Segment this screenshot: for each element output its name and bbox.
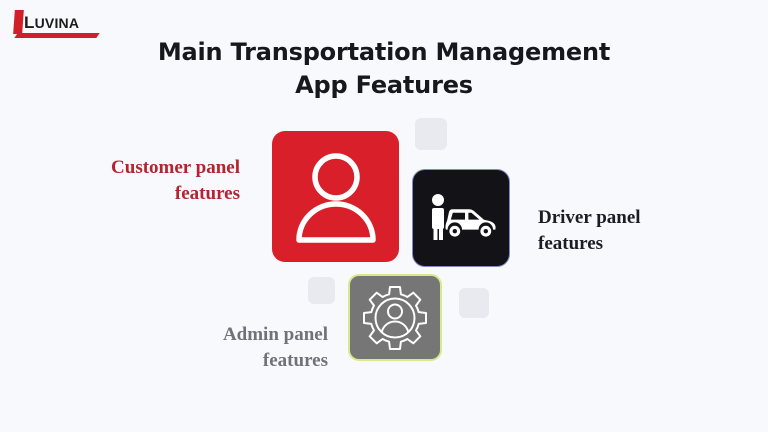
driver-panel-label-line-2: features <box>538 231 738 257</box>
driver-panel-tile[interactable] <box>412 169 510 267</box>
driver-car-icon <box>425 191 497 245</box>
page-title-line-1: Main Transportation Management <box>0 36 768 69</box>
customer-panel-label: Customer panel features <box>30 155 240 207</box>
admin-panel-label-line-2: features <box>80 348 328 374</box>
admin-panel-label-line-1: Admin panel <box>80 322 328 348</box>
logo-lead-letter: L <box>24 13 35 32</box>
logo-wordmark: LUVINA <box>24 13 79 33</box>
page-title-line-2: App Features <box>0 69 768 102</box>
person-icon <box>294 151 378 243</box>
customer-panel-label-line-1: Customer panel <box>30 155 240 181</box>
customer-panel-label-line-2: features <box>30 181 240 207</box>
gear-user-icon <box>362 285 428 351</box>
admin-panel-label: Admin panel features <box>80 322 328 374</box>
admin-panel-tile[interactable] <box>348 274 442 361</box>
driver-panel-label-line-1: Driver panel <box>538 205 738 231</box>
driver-panel-label: Driver panel features <box>538 205 738 257</box>
decorative-square-2 <box>308 277 335 304</box>
page-title: Main Transportation Management App Featu… <box>0 36 768 102</box>
logo-rest-letters: UVINA <box>35 15 80 31</box>
decorative-square-1 <box>415 118 447 150</box>
decorative-square-3 <box>459 288 489 318</box>
customer-panel-tile[interactable] <box>272 131 399 262</box>
luvina-logo: LUVINA <box>14 10 100 38</box>
